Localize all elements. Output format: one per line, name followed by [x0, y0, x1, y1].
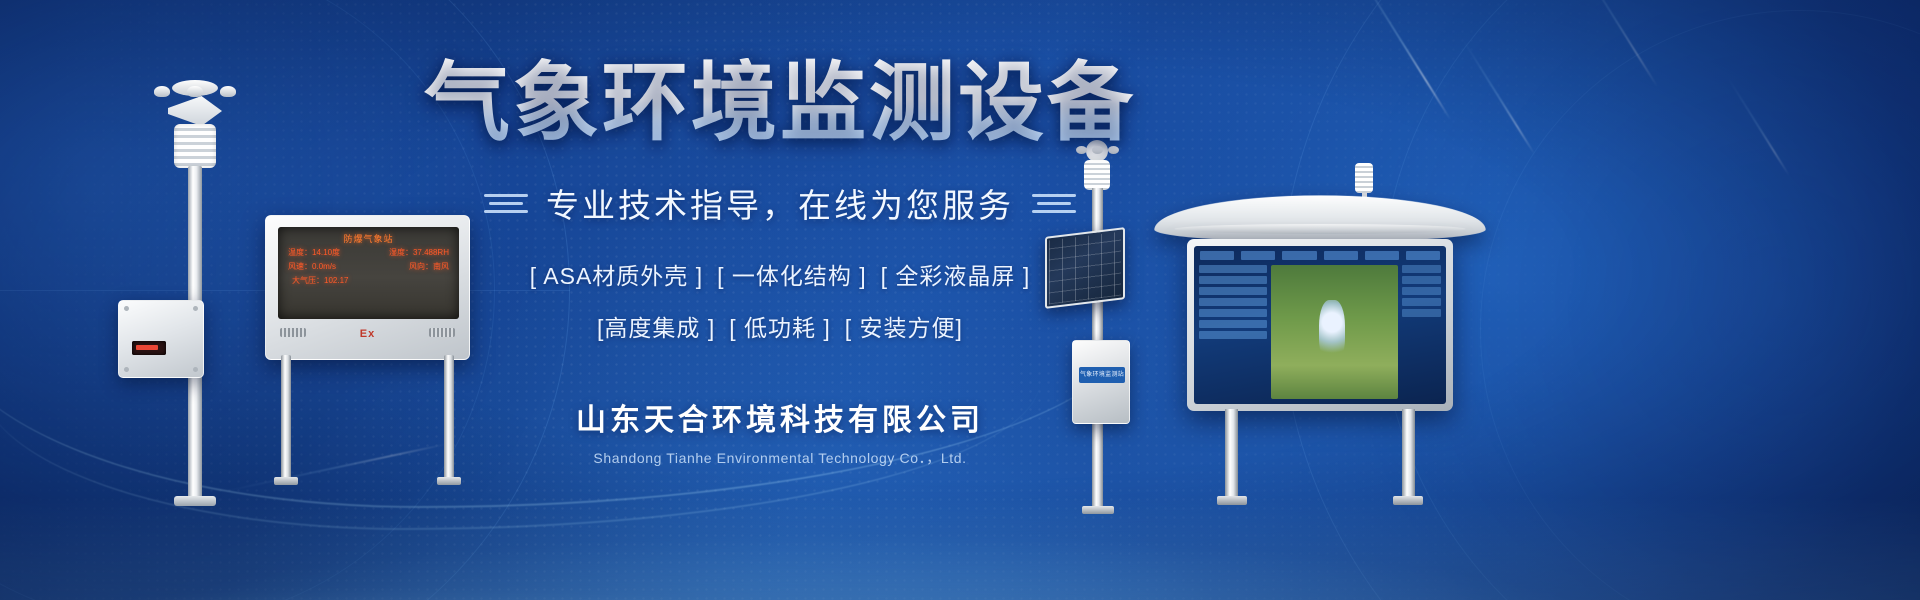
kiosk-screen-frame — [1187, 239, 1453, 411]
kiosk-lcd-screen — [1194, 246, 1446, 404]
lcd-data-column-left — [1199, 265, 1267, 399]
bolt-icon — [124, 367, 129, 372]
lcd-video-panel — [1271, 265, 1399, 399]
page-subtitle: 专业技术指导，在线为您服务 — [546, 179, 1014, 227]
radiation-shield-icon — [1355, 163, 1373, 193]
bolt-icon — [193, 306, 198, 311]
company-name-en: Shandong Tianhe Environmental Technology… — [593, 448, 966, 468]
feature-tag-high-integration: [高度集成 ] — [597, 309, 715, 343]
wind-vane-icon — [168, 96, 222, 126]
mast-base — [174, 496, 216, 506]
kiosk-post — [1402, 409, 1415, 505]
anemometer-cups-icon — [154, 86, 236, 100]
company-name-cn: 山东天合环境科技有限公司 — [576, 395, 984, 439]
led-value-temperature: 温度：14.10度 — [288, 246, 340, 260]
enclosure-display — [132, 341, 166, 355]
feature-tag-easy-install: [ 安装方便] — [845, 309, 963, 343]
kiosk-post-base — [1393, 496, 1423, 505]
kiosk-post-base — [1217, 496, 1247, 505]
page-title: 气象环境监测设备 — [424, 58, 1136, 149]
feature-tag-color-lcd: [ 全彩液晶屏 ] — [881, 257, 1031, 291]
led-value-pressure: 大气压：102.17 — [292, 274, 348, 288]
led-value-windspeed: 风速：0.0m/s — [288, 260, 336, 274]
feature-tag-row-2: [高度集成 ] [ 低功耗 ] [ 安装方便] — [410, 309, 1150, 343]
decorative-lines-right-icon — [1032, 194, 1076, 213]
ex-certification-mark: Ex — [360, 328, 375, 340]
feature-tag-row-1: [ ASA材质外壳 ] [ 一体化结构 ] [ 全彩液晶屏 ] — [410, 257, 1150, 291]
lcd-header-bar — [1194, 246, 1446, 262]
bolt-icon — [124, 306, 129, 311]
weather-mast-product — [150, 80, 240, 500]
product-banner: 防爆气象站 温度：14.10度 湿度：37.488RH 风速：0.0m/s 风向… — [0, 0, 1920, 600]
kiosk-post — [1225, 409, 1238, 505]
lcd-data-column-right — [1402, 265, 1441, 399]
subtitle-row: 专业技术指导，在线为您服务 — [484, 179, 1076, 227]
radiation-shield-icon — [174, 124, 216, 168]
board-leg-base — [274, 477, 298, 485]
banner-text-block: 气象环境监测设备 专业技术指导，在线为您服务 [ ASA材质外壳 ] [ 一体化… — [380, 0, 1180, 600]
feature-tag-low-power: [ 低功耗 ] — [729, 309, 831, 343]
lcd-content-area — [1194, 262, 1446, 404]
controller-enclosure — [118, 300, 204, 378]
feature-tag-asa-shell: [ ASA材质外壳 ] — [530, 257, 703, 291]
vent-icon — [280, 328, 306, 337]
board-leg — [281, 355, 291, 485]
kiosk-canopy — [1154, 195, 1487, 241]
feature-tag-integrated-structure: [ 一体化结构 ] — [717, 257, 867, 291]
decorative-lines-left-icon — [484, 194, 528, 213]
outdoor-lcd-kiosk-product — [1155, 185, 1485, 505]
feature-tag-list: [ ASA材质外壳 ] [ 一体化结构 ] [ 全彩液晶屏 ] [高度集成 ] … — [410, 257, 1150, 343]
bolt-icon — [193, 367, 198, 372]
